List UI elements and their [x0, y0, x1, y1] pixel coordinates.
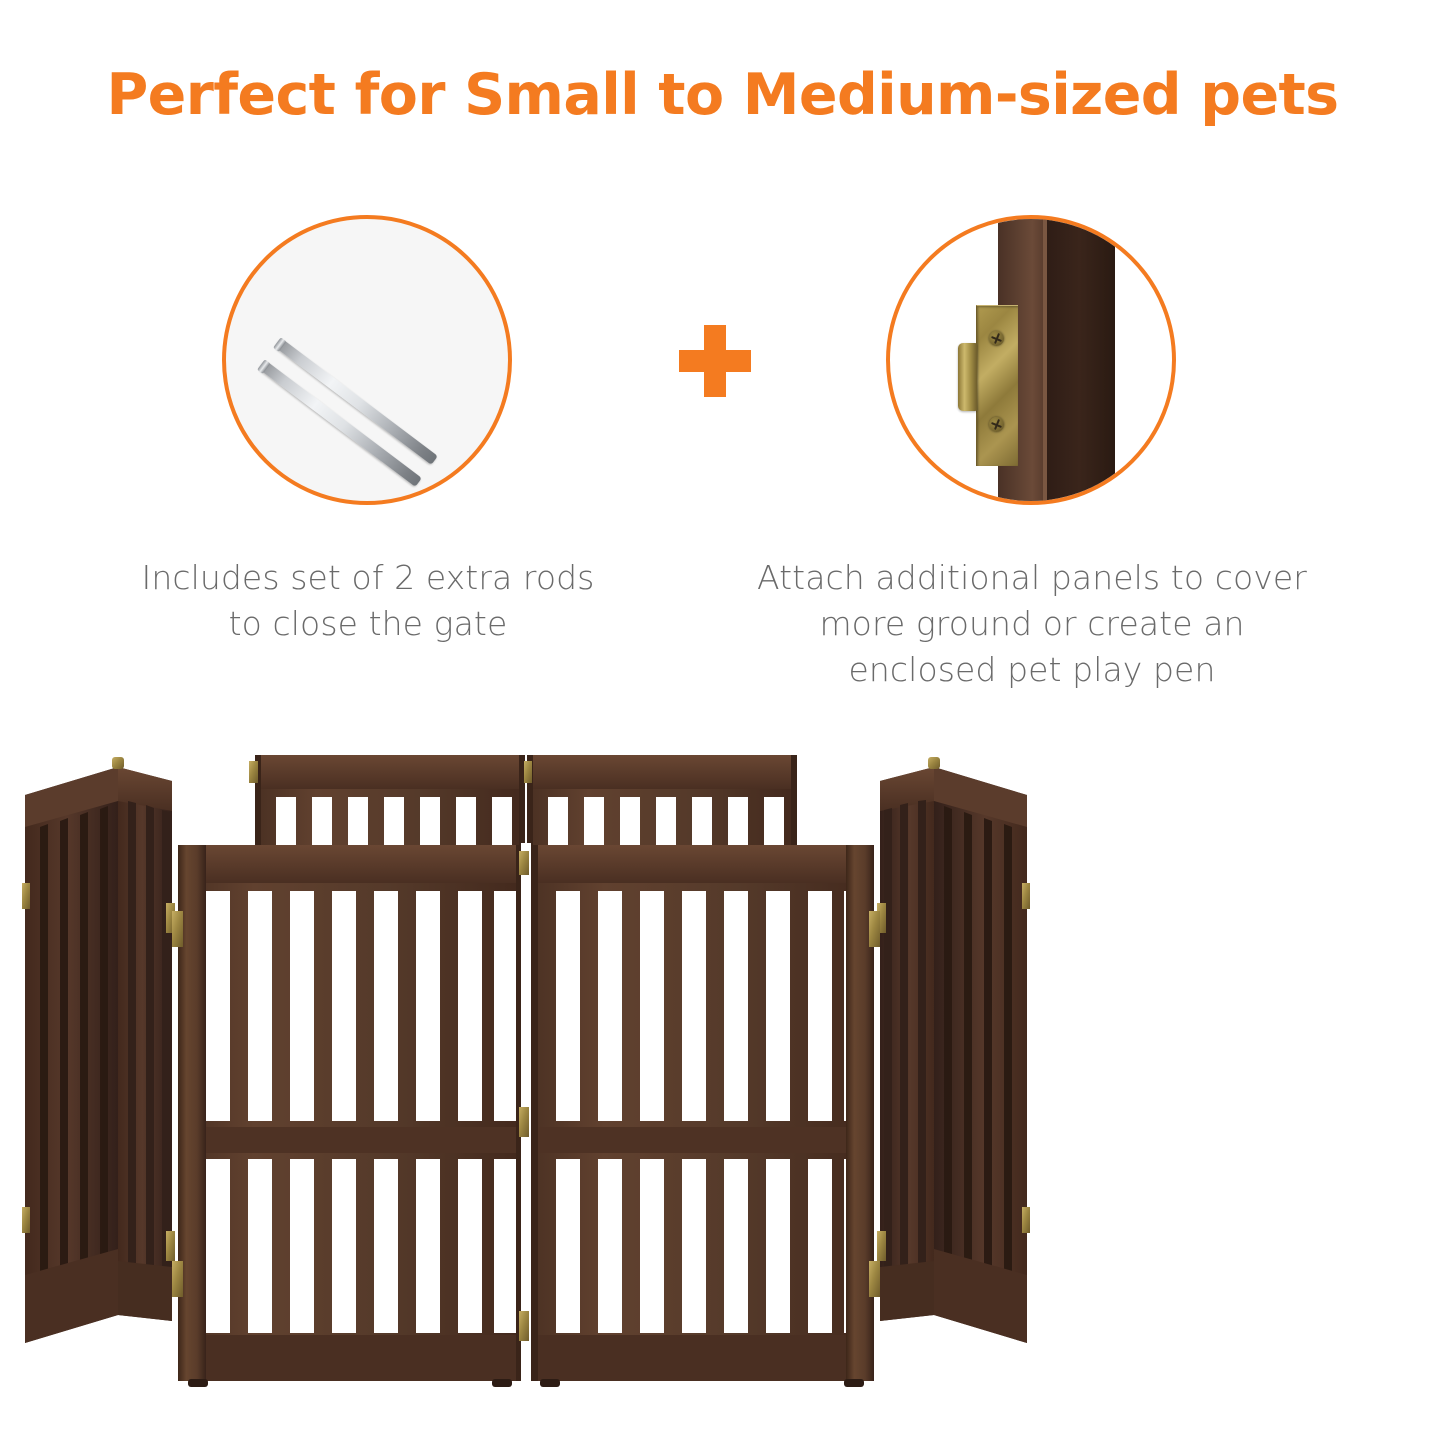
hinge-icon: [877, 1231, 886, 1261]
brass-hinge-plate: [976, 305, 1018, 466]
hinge-icon: [519, 1311, 529, 1341]
brass-hinge-knuckle: [958, 343, 977, 411]
plus-icon: [679, 325, 751, 397]
gate-panel-right-rear: [877, 767, 934, 1321]
gate-panel-far-right: [934, 767, 1030, 1343]
metal-rod-icon: [275, 338, 438, 465]
feature-circle-additional-panels: [886, 215, 1176, 505]
hinge-icon: [869, 911, 880, 947]
gate-panel-front-right: [528, 845, 880, 1387]
hinge-icon: [249, 761, 258, 783]
product-image-pet-gate: [0, 715, 1445, 1415]
pin-icon: [112, 757, 124, 769]
metal-rod-icon: [259, 360, 422, 487]
screw-icon: [989, 331, 1004, 346]
hinge-icon: [1022, 883, 1030, 909]
gate-panel-far-left: [22, 767, 118, 1343]
gate-panel-left-rear: [118, 767, 175, 1321]
hinge-icon: [22, 883, 30, 909]
gate-panel-front-left: [172, 845, 526, 1387]
screw-icon: [989, 417, 1004, 432]
hinge-icon: [166, 1231, 175, 1261]
hinge-icon: [172, 911, 183, 947]
caption-extra-rods: Includes set of 2 extra rods to close th…: [120, 555, 616, 647]
plus-vertical-bar: [704, 325, 726, 397]
caption-additional-panels: Attach additional panels to cover more g…: [752, 555, 1312, 693]
pet-gate-illustration: [0, 715, 1445, 1415]
pin-icon: [928, 757, 940, 769]
hinge-icon: [519, 1107, 529, 1137]
hinge-icon: [524, 761, 532, 783]
hinge-icon: [22, 1207, 30, 1233]
wood-post-side-face: [1047, 215, 1115, 505]
hinge-icon: [1022, 1207, 1030, 1233]
page-title: Perfect for Small to Medium-sized pets: [0, 62, 1445, 128]
hinge-icon: [869, 1261, 880, 1297]
feature-circle-extra-rods: [222, 215, 512, 505]
hinge-icon: [172, 1261, 183, 1297]
hinge-icon: [519, 851, 529, 875]
